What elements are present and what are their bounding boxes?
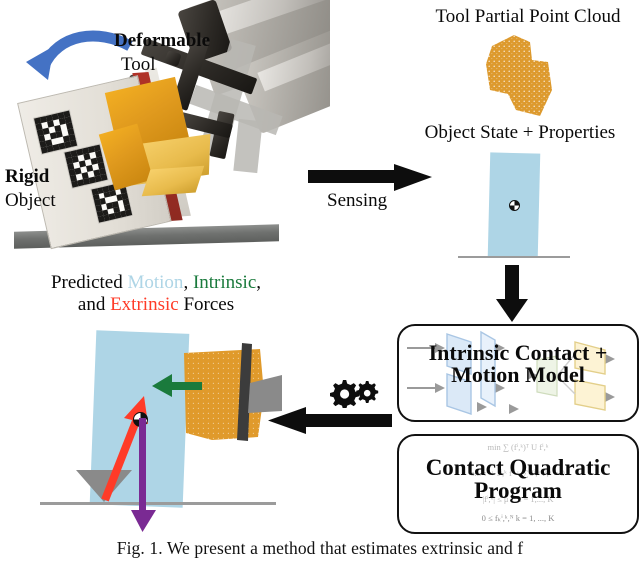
deformable-sponge-tip bbox=[142, 166, 205, 196]
qp-math-line4: 0 ≤ fₖⁱ,ᵏ,ᴺ k = 1, ..., K bbox=[399, 512, 637, 525]
prediction-title-predicted: Predicted bbox=[51, 272, 128, 293]
sensing-arrow bbox=[308, 164, 434, 192]
qp-text-block: Contact Quadratic Program bbox=[399, 436, 637, 503]
prediction-title-line1: Predicted Motion, Intrinsic, bbox=[0, 272, 312, 293]
intrinsic-contact-motion-model-box[interactable]: Intrinsic Contact + Motion Model bbox=[397, 324, 639, 422]
robot-photo-panel: Deformable Tool Rigid Object bbox=[0, 0, 330, 262]
state-to-model-arrow bbox=[494, 265, 530, 323]
gears-icon bbox=[325, 378, 381, 408]
prediction-title-comma2: , bbox=[256, 272, 261, 293]
prediction-title-forces: Forces bbox=[179, 294, 234, 315]
qp-line1: Contact Quadratic bbox=[399, 456, 637, 479]
predicted-gripper-blade bbox=[228, 341, 284, 445]
qp-line2: Program bbox=[399, 479, 637, 502]
green-intrinsic-force-arrow bbox=[152, 374, 202, 398]
prediction-title-line2: and Extrinsic Forces bbox=[0, 294, 312, 315]
deformable-tool-label-line1: Deformable bbox=[114, 30, 210, 51]
deformable-tool-label-line2: Tool bbox=[121, 54, 156, 75]
prediction-title-intrinsic: Intrinsic bbox=[193, 272, 256, 293]
model-to-prediction-arrow bbox=[266, 406, 392, 436]
rigid-object-label-line1: Rigid bbox=[5, 166, 49, 187]
sensing-label: Sensing bbox=[327, 190, 387, 211]
center-of-mass-marker bbox=[509, 200, 520, 211]
prediction-title-comma1: , bbox=[183, 272, 193, 293]
prediction-title-extrinsic: Extrinsic bbox=[110, 294, 179, 315]
intrinsic-model-text-block: Intrinsic Contact + Motion Model bbox=[399, 326, 637, 387]
figure-root: Deformable Tool Rigid Object Tool Partia… bbox=[0, 0, 640, 562]
point-cloud-title: Tool Partial Point Cloud bbox=[416, 6, 640, 27]
intrinsic-model-line1: Intrinsic Contact + bbox=[399, 342, 637, 364]
object-state-ground-line bbox=[458, 256, 570, 258]
figure-caption: Fig. 1. We present a method that estimat… bbox=[0, 538, 640, 559]
contact-quadratic-program-box[interactable]: min ∑ (fⁱ,ᵏ)ᵀ U fⁱ,ᵏ s.t. τⁱ + Jⁱ,ᵏ fⁱ +… bbox=[397, 434, 639, 534]
prediction-title-motion: Motion bbox=[127, 272, 183, 293]
prediction-title-and: and bbox=[78, 294, 110, 315]
tool-partial-point-cloud bbox=[468, 30, 574, 122]
object-state-title: Object State + Properties bbox=[400, 122, 640, 143]
purple-gravity-arrow bbox=[128, 418, 164, 534]
rigid-object-label-line2: Object bbox=[5, 190, 56, 211]
intrinsic-model-line2: Motion Model bbox=[399, 364, 637, 386]
